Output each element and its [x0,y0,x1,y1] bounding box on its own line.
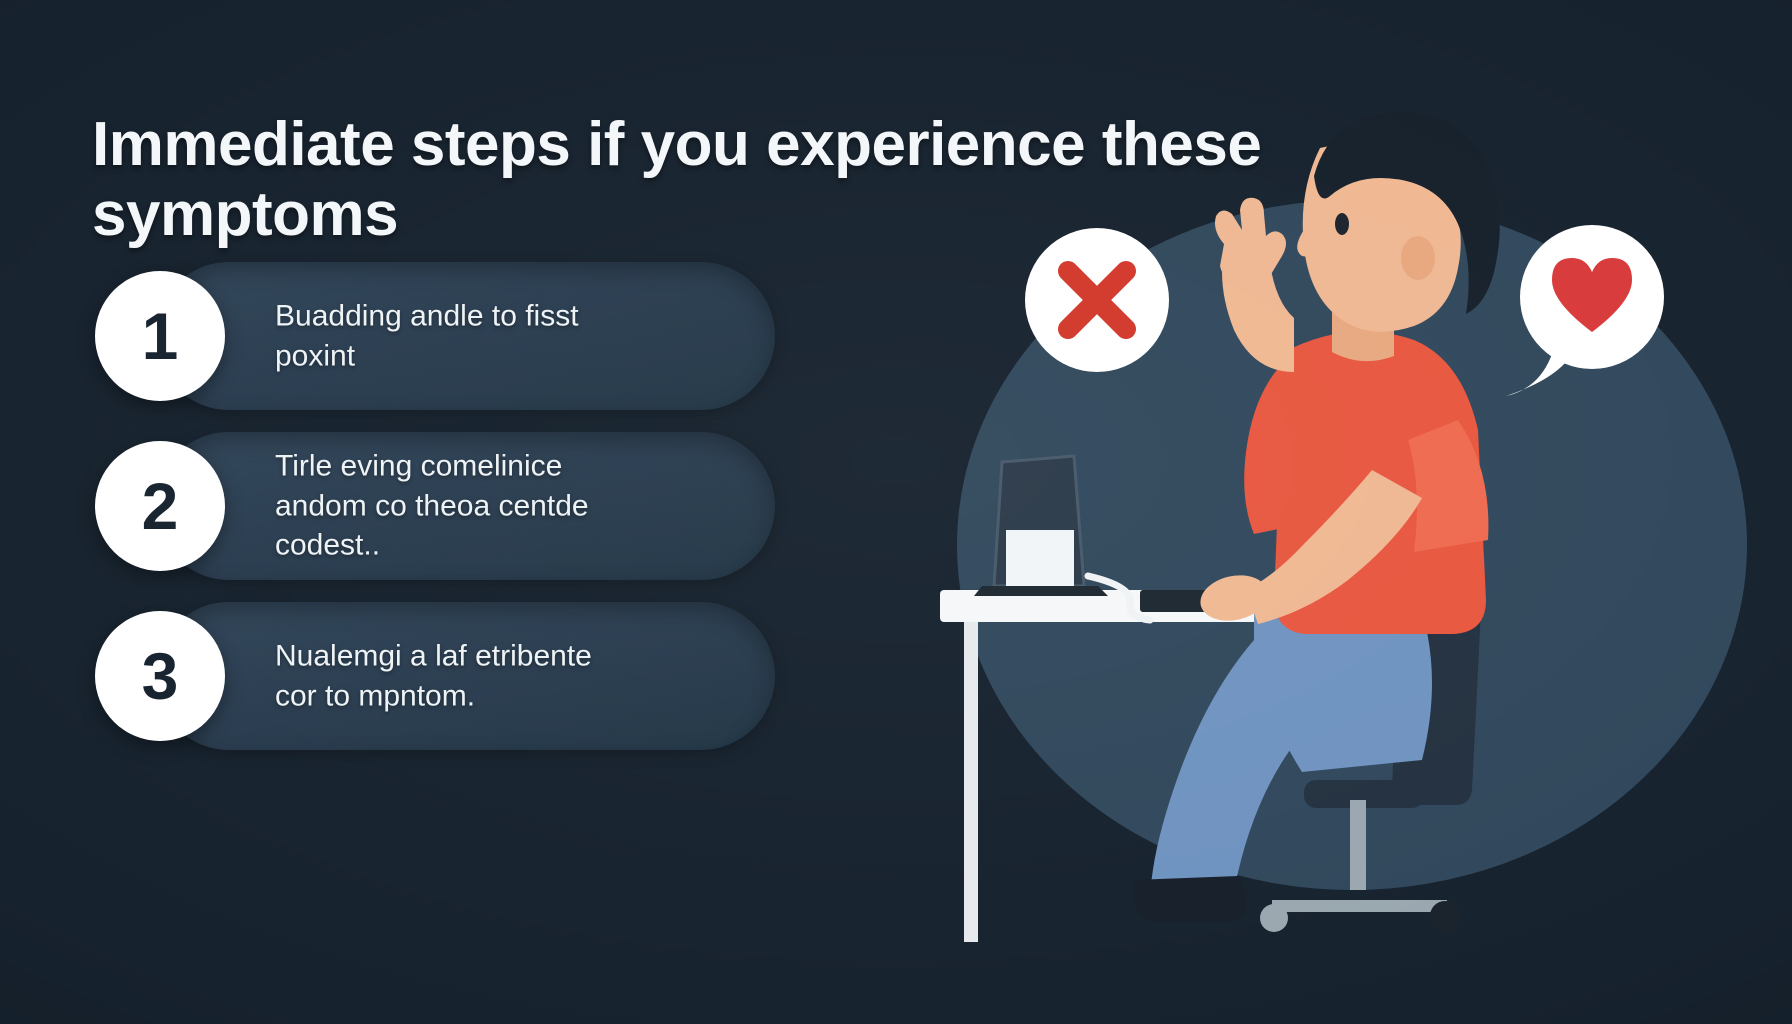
chair-wheel-right [1430,901,1460,931]
shoe [1133,876,1247,922]
step-text: Nualemgi a laf etribente cor to mpntom. [275,636,705,715]
step-text: Tirle eving comelinice andom co theoa ce… [275,447,705,566]
step-text: Buadding andle to fisst poxint [275,296,705,375]
laptop-base [974,586,1108,596]
infographic-canvas: Immediate steps if you experience these … [0,0,1792,1024]
page-title: Immediate steps if you experience these … [92,110,1392,251]
chair-base [1272,900,1447,912]
desk-leg [964,622,978,942]
list-item: 3 Nualemgi a laf etribente cor to mpntom… [95,602,775,750]
steps-list: 1 Buadding andle to fisst poxint 2 Tirle… [95,262,775,772]
ear [1401,236,1435,280]
step-number-badge: 1 [95,271,225,401]
list-item: 1 Buadding andle to fisst poxint [95,262,775,410]
chair-wheel-left [1260,904,1288,932]
list-item: 2 Tirle eving comelinice andom co theoa … [95,432,775,580]
chair-column [1350,800,1366,890]
step-number-badge: 2 [95,441,225,571]
step-number-badge: 3 [95,611,225,741]
laptop-screen-glow [1006,530,1074,586]
